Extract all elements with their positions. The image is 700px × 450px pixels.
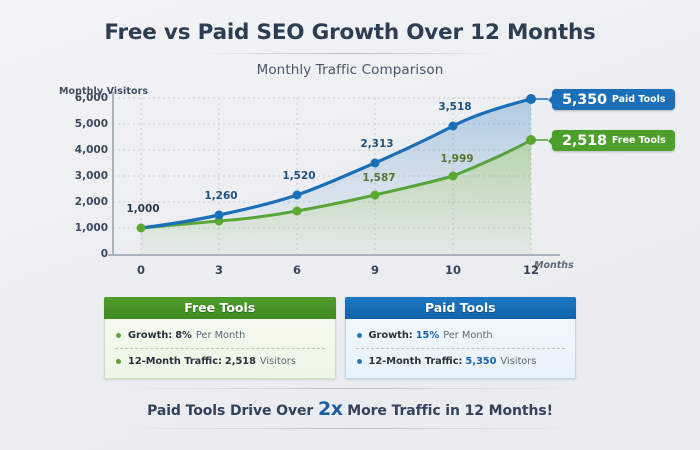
data-label-paid: 2,313 [360, 138, 393, 150]
x-tick: 10 [445, 263, 461, 277]
data-label-paid: 3,518 [438, 101, 471, 113]
free-callout-name: Free Tools [612, 135, 666, 146]
footer-trail: More Traffic in 12 Months! [347, 403, 553, 419]
row-unit: Per Month [196, 330, 245, 341]
card-row: 12-Month Traffic: 5,350 Visitors [346, 348, 576, 374]
row-unit: Visitors [500, 356, 536, 367]
paid-tools-card: Paid Tools Growth: 15% Per Month 12-Mont… [345, 297, 577, 379]
row-key: 12-Month Traffic: [128, 356, 222, 367]
x-tick: 6 [293, 263, 301, 277]
paid-tools-card-body: Growth: 15% Per Month 12-Month Traffic: … [345, 319, 577, 379]
free-tools-card-title: Free Tools [104, 297, 336, 319]
footer-emphasis: 2x [318, 398, 342, 420]
x-tick: 9 [371, 263, 379, 277]
row-key: Growth: [369, 330, 413, 341]
row-value: 2,518 [225, 356, 256, 367]
footer-lead: Paid Tools Drive Over [147, 403, 313, 419]
row-unit: Visitors [260, 356, 296, 367]
free-tools-callout: 2,518 Free Tools [552, 130, 675, 151]
bullet-icon [116, 333, 121, 338]
free-callout-value: 2,518 [562, 133, 607, 149]
footer-callout: Paid Tools Drive Over 2x More Traffic in… [0, 389, 700, 428]
footer-divider-bottom [124, 428, 576, 429]
row-value: 5,350 [465, 356, 496, 367]
row-key: 12-Month Traffic: [369, 356, 463, 367]
card-row: Growth: 15% Per Month [346, 322, 576, 348]
data-label-free: 1,999 [440, 153, 473, 165]
data-label-free: 1,587 [362, 172, 395, 184]
summary-cards: Free Tools Growth: 8% Per Month 12-Month… [104, 297, 576, 379]
paid-tools-callout: 5,350 Paid Tools [552, 89, 675, 110]
free-tools-card: Free Tools Growth: 8% Per Month 12-Month… [104, 297, 336, 379]
card-row: Growth: 8% Per Month [105, 322, 335, 348]
infographic-canvas: Free vs Paid SEO Growth Over 12 Months M… [0, 0, 700, 450]
paid-callout-value: 5,350 [562, 92, 607, 108]
row-key: Growth: [128, 330, 172, 341]
bullet-icon [116, 359, 121, 364]
bullet-icon [357, 359, 362, 364]
bullet-icon [357, 333, 362, 338]
x-tick: 12 [523, 263, 539, 277]
free-tools-card-body: Growth: 8% Per Month 12-Month Traffic: 2… [104, 319, 336, 379]
data-label-paid: 1,520 [282, 170, 315, 182]
row-value: 15% [416, 330, 439, 341]
row-unit: Per Month [443, 330, 492, 341]
line-chart: Monthly Visitors Months 0 1,000 2,000 3,… [0, 78, 700, 288]
footer: Paid Tools Drive Over 2x More Traffic in… [0, 388, 700, 429]
page-subtitle: Monthly Traffic Comparison [0, 62, 700, 78]
title-divider [200, 53, 500, 54]
paid-callout-name: Paid Tools [612, 94, 666, 105]
x-tick: 3 [215, 263, 223, 277]
x-tick: 0 [137, 263, 145, 277]
data-label-start: 1,000 [126, 203, 159, 215]
page-title: Free vs Paid SEO Growth Over 12 Months [0, 22, 700, 44]
paid-tools-card-title: Paid Tools [345, 297, 577, 319]
row-value: 8% [175, 330, 192, 341]
header: Free vs Paid SEO Growth Over 12 Months M… [0, 0, 700, 78]
data-label-paid: 1,260 [204, 190, 237, 202]
card-row: 12-Month Traffic: 2,518 Visitors [105, 348, 335, 374]
